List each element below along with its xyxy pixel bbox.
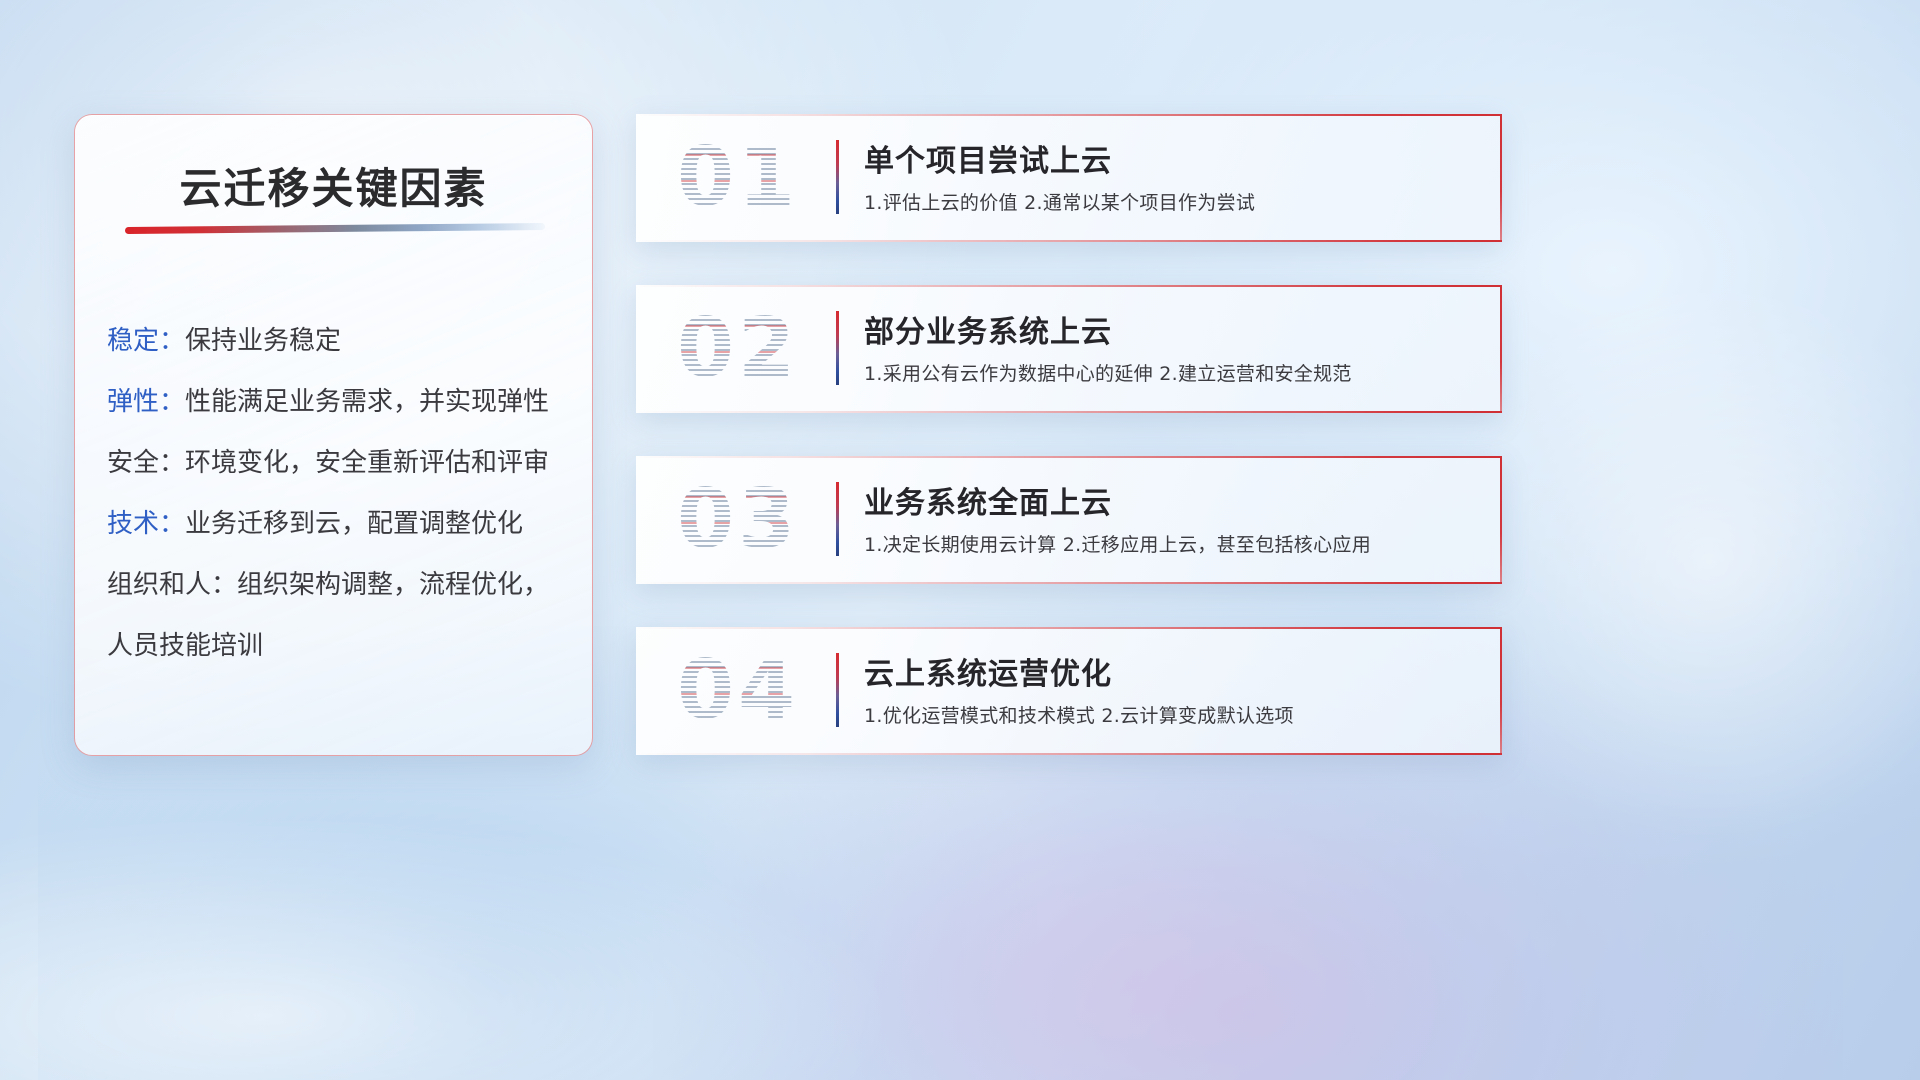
card-right-rule xyxy=(1500,114,1502,242)
key-factors-list: 稳定：保持业务稳定 弹性：性能满足业务需求，并实现弹性 安全：环境变化，安全重新… xyxy=(107,311,570,677)
stage-title: 部分业务系统上云 xyxy=(864,307,1112,351)
factor-label: 组织和人： xyxy=(107,570,237,600)
stage-card[interactable]: 04 04 云上系统运营优化 1.优化运营模式和技术模式 2.云计算变成默认选项 xyxy=(636,627,1502,755)
stage-card[interactable]: 01 01 单个项目尝试上云 1.评估上云的价值 2.通常以某个项目作为尝试 xyxy=(636,114,1502,242)
list-item: 稳定：保持业务稳定 xyxy=(107,311,570,372)
card-divider-bar xyxy=(836,311,839,385)
card-top-rule xyxy=(636,285,1502,287)
stage-card[interactable]: 02 02 部分业务系统上云 1.采用公有云作为数据中心的延伸 2.建立运营和安… xyxy=(636,285,1502,413)
stage-title: 单个项目尝试上云 xyxy=(864,136,1112,180)
list-item: 弹性：性能满足业务需求，并实现弹性 xyxy=(107,372,570,433)
factor-label: 安全： xyxy=(107,448,185,478)
card-divider-bar xyxy=(836,482,839,556)
factor-label: 技术： xyxy=(107,509,185,539)
stage-description: 1.评估上云的价值 2.通常以某个项目作为尝试 xyxy=(864,188,1255,215)
stage-title: 业务系统全面上云 xyxy=(864,478,1112,522)
stage-card[interactable]: 03 03 业务系统全面上云 1.决定长期使用云计算 2.迁移应用上云，甚至包括… xyxy=(636,456,1502,584)
card-right-rule xyxy=(1500,456,1502,584)
card-divider-bar xyxy=(836,140,839,214)
factor-desc: 人员技能培训 xyxy=(107,631,263,661)
factor-desc: 环境变化，安全重新评估和评审 xyxy=(185,448,549,478)
factor-label: 稳定： xyxy=(107,326,185,356)
list-item: 人员技能培训 xyxy=(107,616,570,677)
stage-title: 云上系统运营优化 xyxy=(864,649,1112,693)
stage-description: 1.采用公有云作为数据中心的延伸 2.建立运营和安全规范 xyxy=(864,359,1352,386)
card-top-rule xyxy=(636,627,1502,629)
page-title: 云迁移关键因素 xyxy=(75,155,592,216)
factor-desc: 业务迁移到云，配置调整优化 xyxy=(185,509,523,539)
card-right-rule xyxy=(1500,627,1502,755)
slide-stage: 云迁移关键因素 稳定：保持业务稳定 弹性：性能满足业务需求，并实现弹性 安全：环… xyxy=(0,0,1920,1080)
stage-number-ghost-red: 03 xyxy=(658,470,818,570)
card-bottom-rule xyxy=(636,753,1502,755)
factor-desc: 组织架构调整，流程优化， xyxy=(237,570,549,600)
card-bottom-rule xyxy=(636,582,1502,584)
card-bottom-rule xyxy=(636,411,1502,413)
card-bottom-rule xyxy=(636,240,1502,242)
stage-number-ghost-red: 04 xyxy=(658,641,818,741)
stage-card-list: 01 01 单个项目尝试上云 1.评估上云的价值 2.通常以某个项目作为尝试 0… xyxy=(636,114,1502,798)
card-top-rule xyxy=(636,456,1502,458)
factor-desc: 保持业务稳定 xyxy=(185,326,341,356)
factor-label: 弹性： xyxy=(107,387,185,417)
stage-number-ghost-red: 02 xyxy=(658,299,818,399)
stage-description: 1.决定长期使用云计算 2.迁移应用上云，甚至包括核心应用 xyxy=(864,530,1371,557)
list-item: 技术：业务迁移到云，配置调整优化 xyxy=(107,494,570,555)
factor-desc: 性能满足业务需求，并实现弹性 xyxy=(185,387,549,417)
list-item: 组织和人：组织架构调整，流程优化， xyxy=(107,555,570,616)
stage-description: 1.优化运营模式和技术模式 2.云计算变成默认选项 xyxy=(864,701,1294,728)
list-item: 安全：环境变化，安全重新评估和评审 xyxy=(107,433,570,494)
stage-number-ghost-red: 01 xyxy=(658,128,818,228)
card-top-rule xyxy=(636,114,1502,116)
key-factors-panel: 云迁移关键因素 稳定：保持业务稳定 弹性：性能满足业务需求，并实现弹性 安全：环… xyxy=(74,114,593,756)
card-right-rule xyxy=(1500,285,1502,413)
card-divider-bar xyxy=(836,653,839,727)
title-underline-rule xyxy=(125,223,545,234)
